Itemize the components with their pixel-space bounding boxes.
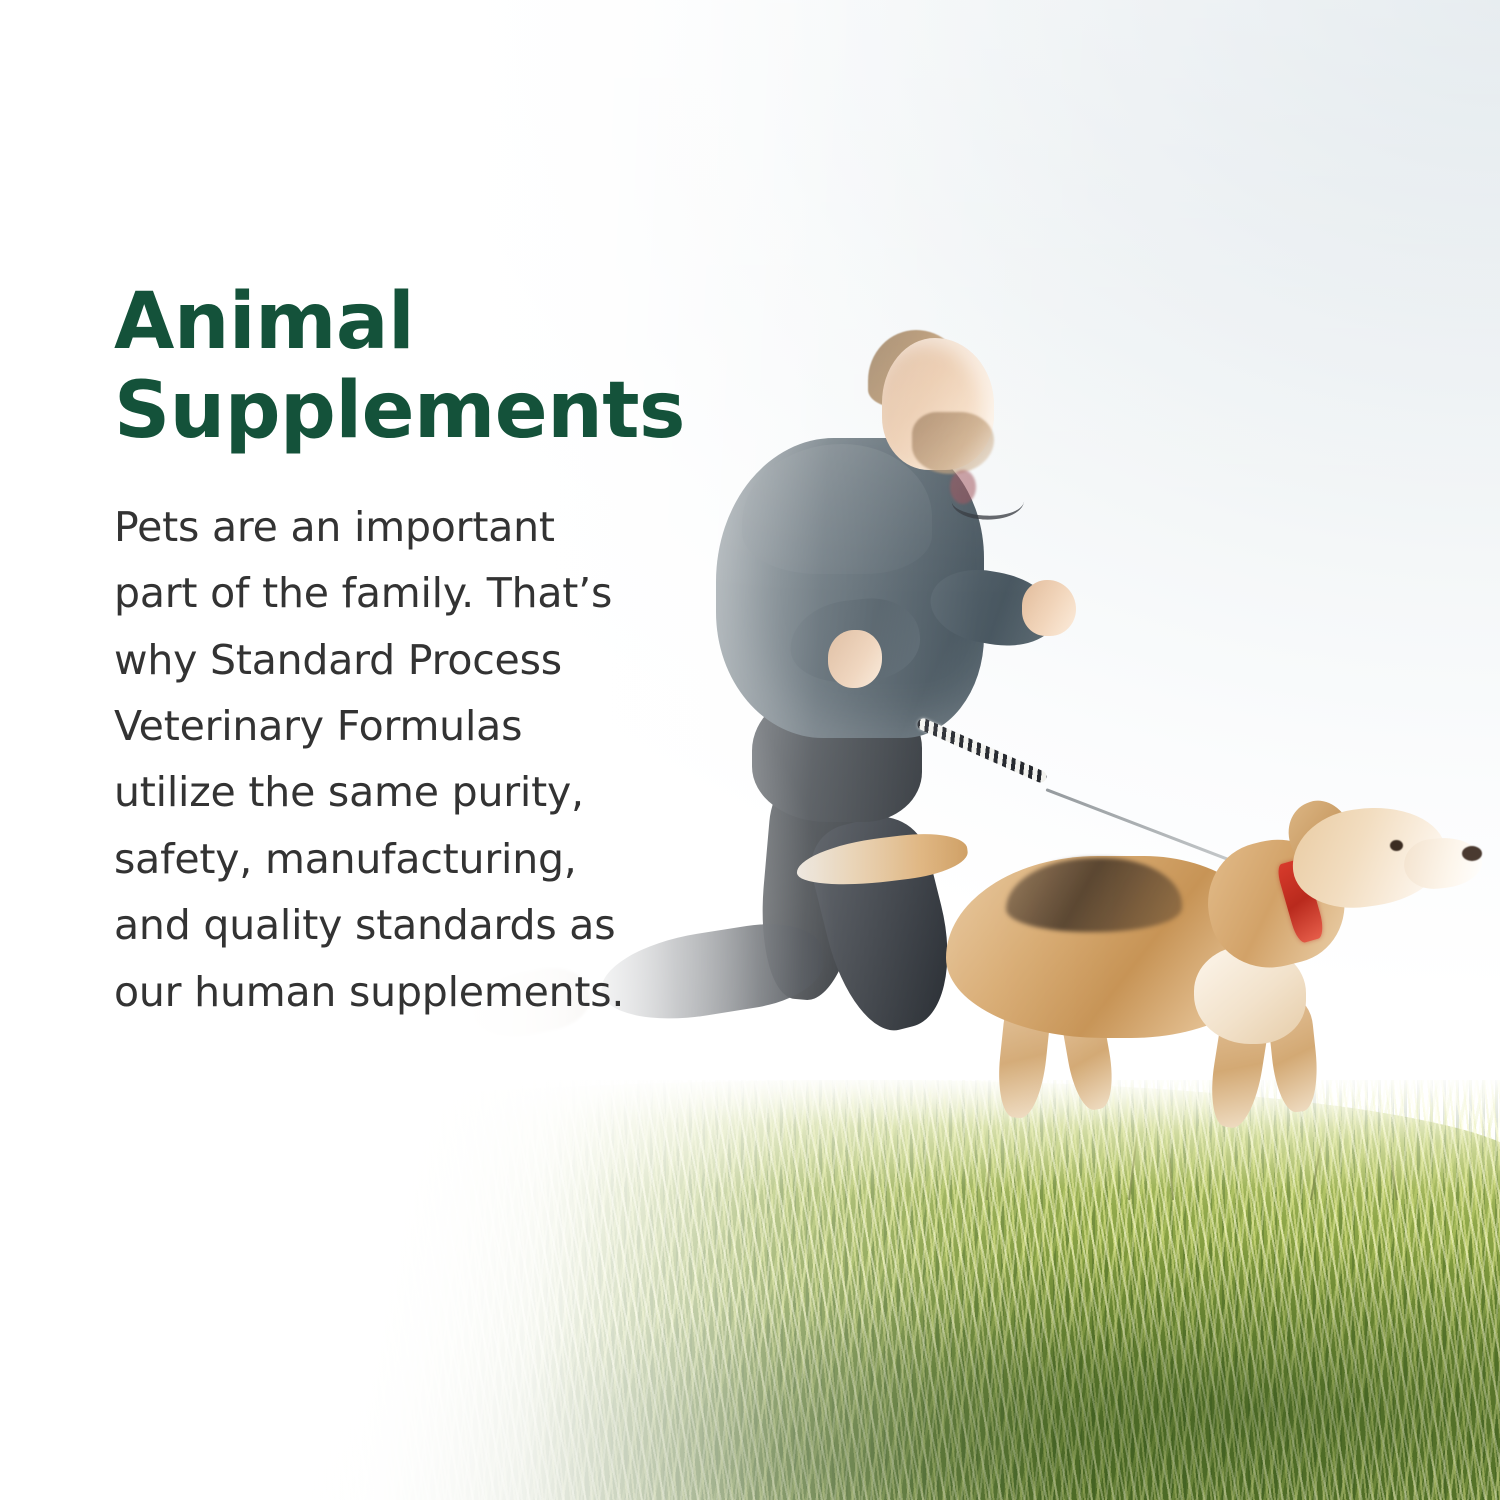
page-title: Animal Supplements [114,278,694,456]
runner-back-fist [828,630,882,688]
grass-sun-wash [0,1080,1500,1500]
runner-front-fist [1022,580,1076,636]
promo-banner: Animal Supplements Pets are an important… [0,0,1500,1500]
dog-eye [1390,840,1403,851]
copy-column: Animal Supplements Pets are an important… [114,278,694,1025]
body-paragraph: Pets are an important part of the family… [114,456,694,1025]
dog-nose [1462,846,1482,861]
grass-field [0,1080,1500,1500]
